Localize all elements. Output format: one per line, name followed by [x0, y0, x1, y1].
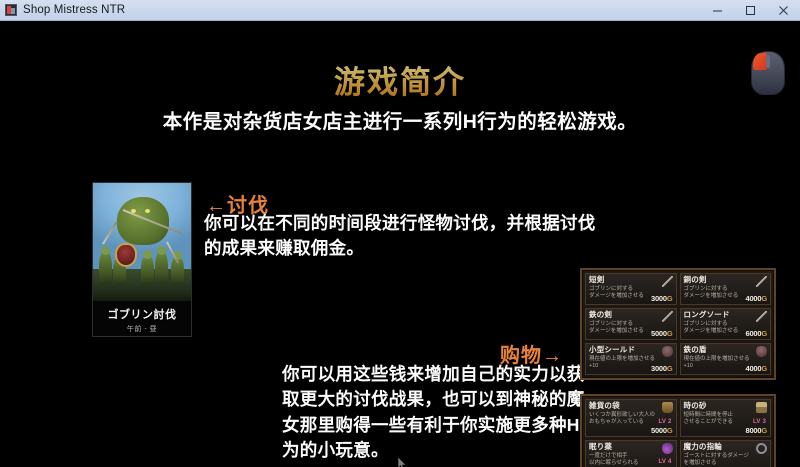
window-title: Shop Mistress NTR — [23, 4, 125, 16]
shop-item-level: LV 2 — [658, 419, 671, 425]
close-icon — [778, 5, 789, 16]
shop-item-row[interactable]: 短剣 ゴブリンに対する ダメージを増加させる 3000G — [585, 273, 677, 305]
minimize-icon — [712, 5, 723, 16]
mouse-left-click-icon — [751, 51, 785, 95]
window-titlebar[interactable]: Shop Mistress NTR — [0, 0, 800, 21]
close-button[interactable] — [767, 0, 800, 20]
page-subtitle: 本作是对杂货店女店主进行一系列H行为的轻松游戏。 — [0, 105, 800, 134]
bag-icon — [662, 402, 673, 413]
shop-item-row[interactable]: 鉄の盾 現在値の上限を増加させる +10 4000G — [680, 343, 772, 375]
quest-card[interactable]: ゴブリン討伐 午前 - 昼 — [92, 182, 192, 337]
shop-item-row[interactable]: 魔力の指輪 ゴーストに対するダメージ を増加させる 15000G — [680, 440, 772, 467]
shop-item-name: ロングソード — [684, 311, 768, 319]
maximize-icon — [745, 5, 756, 16]
shop-item-row[interactable]: 雑貨の袋 いくつか異形欲しい大人の おもちゃが入っている LV 2 5000G — [585, 399, 677, 437]
shop-item-price: 6000G — [745, 329, 767, 338]
quest-card-caption: ゴブリン討伐 午前 - 昼 — [93, 301, 191, 336]
shop-panel-weapons[interactable]: 短剣 ゴブリンに対する ダメージを増加させる 3000G 銅の剣 ゴブリンに対す… — [580, 268, 776, 380]
shop-item-name: 小型シールド — [589, 346, 673, 354]
maximize-button[interactable] — [734, 0, 767, 20]
shop-item-name: 雑貨の袋 — [589, 402, 673, 410]
shop-item-price: 3000G — [651, 364, 673, 373]
hunt-description: 你可以在不同的时间段进行怪物讨伐，并根据讨伐的成果来赚取佣金。 — [204, 211, 596, 262]
shop-item-name: 短剣 — [589, 276, 673, 284]
shop-item-price: 5000G — [651, 426, 673, 435]
hourglass-icon — [756, 402, 767, 413]
shop-item-price: 4000G — [745, 294, 767, 303]
sword-icon — [662, 276, 673, 287]
sword-icon — [756, 276, 767, 287]
sword-icon — [756, 311, 767, 322]
mouse-cursor — [398, 457, 407, 467]
shop-item-name: 時の砂 — [684, 402, 768, 410]
shop-item-price: 8000G — [745, 426, 767, 435]
potion-icon — [662, 443, 673, 454]
shop-item-description: ゴーストに対するダメージ を増加させる — [684, 453, 768, 467]
quest-card-title: ゴブリン討伐 — [93, 306, 191, 322]
shield-icon — [756, 346, 767, 357]
quest-card-artwork — [93, 183, 191, 303]
shop-item-price: 3000G — [651, 294, 673, 303]
application-window: Shop Mistress NTR 游戏简介 本作是对杂货店女 — [0, 0, 800, 467]
shop-panel-items[interactable]: 雑貨の袋 いくつか異形欲しい大人の おもちゃが入っている LV 2 5000G … — [580, 394, 776, 467]
quest-card-subtitle: 午前 - 昼 — [93, 324, 191, 334]
shop-item-price: 4000G — [745, 364, 767, 373]
shop-item-level: LV 4 — [658, 459, 671, 465]
shop-item-level: LV 3 — [753, 419, 766, 425]
sword-icon — [662, 311, 673, 322]
shop-item-name: 鉄の剣 — [589, 311, 673, 319]
ring-icon — [756, 443, 767, 454]
shop-item-row[interactable]: 銅の剣 ゴブリンに対する ダメージを増加させる 4000G — [680, 273, 772, 305]
app-icon — [5, 4, 17, 16]
shop-item-row[interactable]: 時の砂 短時間に時間を停止 させることができる LV 3 8000G — [680, 399, 772, 437]
shop-item-row[interactable]: 鉄の剣 ゴブリンに対する ダメージを増加させる 5000G — [585, 308, 677, 340]
shop-item-name: 眠り薬 — [589, 443, 673, 451]
shop-description: 你可以用这些钱来增加自己的实力以获取更大的讨伐战果，也可以到神秘的魔女那里购得一… — [282, 362, 602, 464]
shield-icon — [662, 346, 673, 357]
shop-item-name: 鉄の盾 — [684, 346, 768, 354]
page-title: 游戏简介 — [0, 57, 800, 102]
shop-item-price: 5000G — [651, 329, 673, 338]
window-controls — [701, 0, 800, 20]
shop-item-row[interactable]: 小型シールド 現在値の上限を増加させる +10 3000G — [585, 343, 677, 375]
shop-item-row[interactable]: 眠り薬 一度だけで相手 以内に眠らせられる LV 4 12000G — [585, 440, 677, 467]
game-canvas[interactable]: 游戏简介 本作是对杂货店女店主进行一系列H行为的轻松游戏。 ゴブリン討伐 — [0, 21, 800, 467]
shop-item-name: 魔力の指輪 — [684, 443, 768, 451]
minimize-button[interactable] — [701, 0, 734, 20]
shop-item-name: 銅の剣 — [684, 276, 768, 284]
shop-item-row[interactable]: ロングソード ゴブリンに対する ダメージを増加させる 6000G — [680, 308, 772, 340]
